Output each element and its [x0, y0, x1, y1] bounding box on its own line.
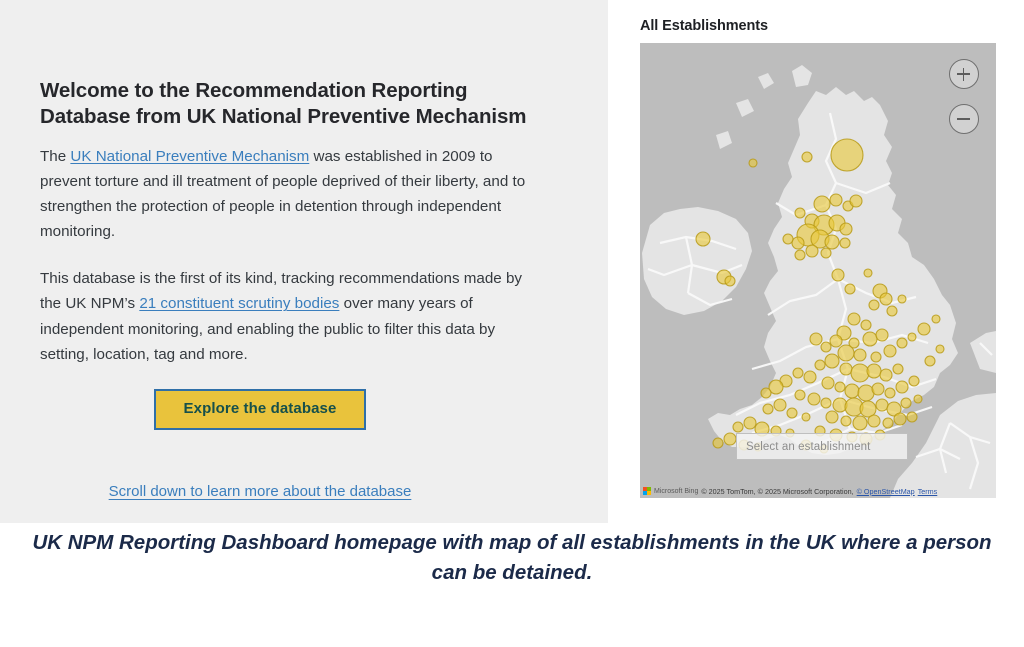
establishment-bubble[interactable] [894, 413, 906, 425]
establishment-bubble[interactable] [832, 269, 844, 281]
map-attribution: Microsoft Bing © 2025 TomTom, © 2025 Mic… [640, 484, 996, 498]
establishment-bubble[interactable] [804, 371, 816, 383]
establishment-bubble[interactable] [863, 332, 877, 346]
establishment-bubble[interactable] [830, 335, 842, 347]
establishment-bubble[interactable] [884, 345, 896, 357]
scrutiny-bodies-link[interactable]: 21 constituent scrutiny bodies [139, 295, 339, 312]
establishment-bubble[interactable] [815, 360, 825, 370]
establishment-bubble[interactable] [744, 417, 756, 429]
establishment-bubble[interactable] [868, 415, 880, 427]
establishment-bubble[interactable] [724, 433, 736, 445]
establishment-bubble[interactable] [774, 399, 786, 411]
establishment-bubble[interactable] [749, 159, 757, 167]
establishment-bubble[interactable] [848, 313, 860, 325]
select-establishment-input[interactable]: Select an establishment [736, 433, 908, 460]
establishment-bubble[interactable] [896, 381, 908, 393]
establishment-bubble[interactable] [761, 388, 771, 398]
establishment-bubble[interactable] [840, 363, 852, 375]
establishment-bubble[interactable] [835, 382, 845, 392]
establishment-bubble[interactable] [853, 416, 867, 430]
bing-wordmark: Microsoft Bing [654, 488, 698, 495]
npm-link[interactable]: UK National Preventive Mechanism [70, 148, 309, 165]
application-screenshot: Welcome to the Recommendation Reporting … [0, 0, 1024, 523]
establishment-bubble[interactable] [808, 393, 820, 405]
establishment-bubble[interactable] [806, 245, 818, 257]
establishments-map[interactable]: Select an establishment Microsoft Bing ©… [640, 43, 996, 498]
establishment-bubble[interactable] [821, 398, 831, 408]
establishment-bubble[interactable] [830, 194, 842, 206]
zoom-in-icon[interactable] [949, 59, 979, 89]
establishment-bubble[interactable] [908, 333, 916, 341]
explore-database-button[interactable]: Explore the database [154, 389, 367, 430]
establishment-bubble[interactable] [897, 338, 907, 348]
welcome-panel: Welcome to the Recommendation Reporting … [0, 0, 608, 523]
establishment-bubble[interactable] [840, 223, 852, 235]
establishment-bubble[interactable] [871, 352, 881, 362]
establishment-bubble[interactable] [932, 315, 940, 323]
establishment-bubble[interactable] [831, 139, 863, 171]
establishment-bubble[interactable] [885, 388, 895, 398]
establishment-bubble[interactable] [840, 238, 850, 248]
terms-link[interactable]: Terms [918, 487, 938, 496]
establishment-bubble[interactable] [898, 295, 906, 303]
map-canvas[interactable] [640, 43, 996, 498]
map-panel: All Establishments [608, 0, 1024, 523]
establishment-bubble[interactable] [869, 300, 879, 310]
establishment-bubble[interactable] [793, 368, 803, 378]
establishment-bubble[interactable] [918, 323, 930, 335]
establishment-bubble[interactable] [851, 364, 869, 382]
establishment-bubble[interactable] [787, 408, 797, 418]
establishment-bubble[interactable] [850, 195, 862, 207]
establishment-bubble[interactable] [733, 422, 743, 432]
establishment-bubble[interactable] [825, 354, 839, 368]
establishment-bubble[interactable] [713, 438, 723, 448]
establishment-bubble[interactable] [872, 383, 884, 395]
establishment-bubble[interactable] [802, 413, 810, 421]
select-establishment-placeholder: Select an establishment [746, 441, 870, 453]
map-title: All Establishments [640, 18, 768, 34]
zoom-out-icon[interactable] [949, 104, 979, 134]
microsoft-logo-icon [643, 487, 651, 495]
establishment-bubble[interactable] [864, 269, 872, 277]
establishment-bubble[interactable] [792, 237, 804, 249]
map-copyright-text: © 2025 TomTom, © 2025 Microsoft Corporat… [701, 487, 853, 496]
establishment-bubble[interactable] [925, 356, 935, 366]
establishment-bubble[interactable] [907, 412, 917, 422]
intro-paragraph-2: This database is the first of its kind, … [40, 266, 545, 366]
establishment-bubble[interactable] [883, 418, 893, 428]
establishment-bubble[interactable] [880, 293, 892, 305]
establishment-bubble[interactable] [825, 235, 839, 249]
establishment-bubble[interactable] [838, 345, 854, 361]
establishment-bubble[interactable] [822, 377, 834, 389]
establishment-bubble[interactable] [802, 152, 812, 162]
figure-caption: UK NPM Reporting Dashboard homepage with… [0, 528, 1024, 587]
establishment-bubble[interactable] [821, 248, 831, 258]
establishment-bubble[interactable] [696, 232, 710, 246]
establishment-bubble[interactable] [845, 384, 859, 398]
establishment-bubble[interactable] [841, 416, 851, 426]
caption-line-1: UK NPM Reporting Dashboard homepage with… [32, 531, 835, 554]
scroll-down-link[interactable]: Scroll down to learn more about the data… [109, 483, 412, 500]
openstreetmap-link[interactable]: © OpenStreetMap [857, 487, 915, 496]
page-title: Welcome to the Recommendation Reporting … [40, 78, 535, 130]
establishment-bubble[interactable] [725, 276, 735, 286]
screenshot-root: Welcome to the Recommendation Reporting … [0, 0, 1024, 647]
establishment-bubble[interactable] [876, 399, 888, 411]
establishment-bubble[interactable] [854, 349, 866, 361]
establishment-bubble[interactable] [861, 320, 871, 330]
establishment-bubble[interactable] [795, 250, 805, 260]
establishment-bubble[interactable] [783, 234, 793, 244]
paragraph-1-prefix: The [40, 148, 70, 165]
establishment-bubble[interactable] [867, 364, 881, 378]
establishment-bubble[interactable] [810, 333, 822, 345]
establishment-bubble[interactable] [795, 208, 805, 218]
establishment-bubble[interactable] [880, 369, 892, 381]
establishment-bubble[interactable] [901, 398, 911, 408]
establishment-bubble[interactable] [814, 196, 830, 212]
establishment-bubble[interactable] [914, 395, 922, 403]
establishment-bubble[interactable] [893, 364, 903, 374]
scroll-link-container: Scroll down to learn more about the data… [40, 483, 550, 501]
establishment-bubble[interactable] [826, 411, 838, 423]
establishment-bubble[interactable] [887, 306, 897, 316]
establishment-bubble[interactable] [821, 342, 831, 352]
establishment-bubble[interactable] [795, 390, 805, 400]
intro-paragraph-1: The UK National Preventive Mechanism was… [40, 144, 545, 244]
establishment-bubble[interactable] [936, 345, 944, 353]
establishment-bubble[interactable] [858, 385, 874, 401]
establishment-bubble[interactable] [909, 376, 919, 386]
cta-container: Explore the database [40, 389, 550, 430]
establishment-bubble[interactable] [845, 284, 855, 294]
establishment-bubble[interactable] [876, 329, 888, 341]
establishment-bubble[interactable] [763, 404, 773, 414]
